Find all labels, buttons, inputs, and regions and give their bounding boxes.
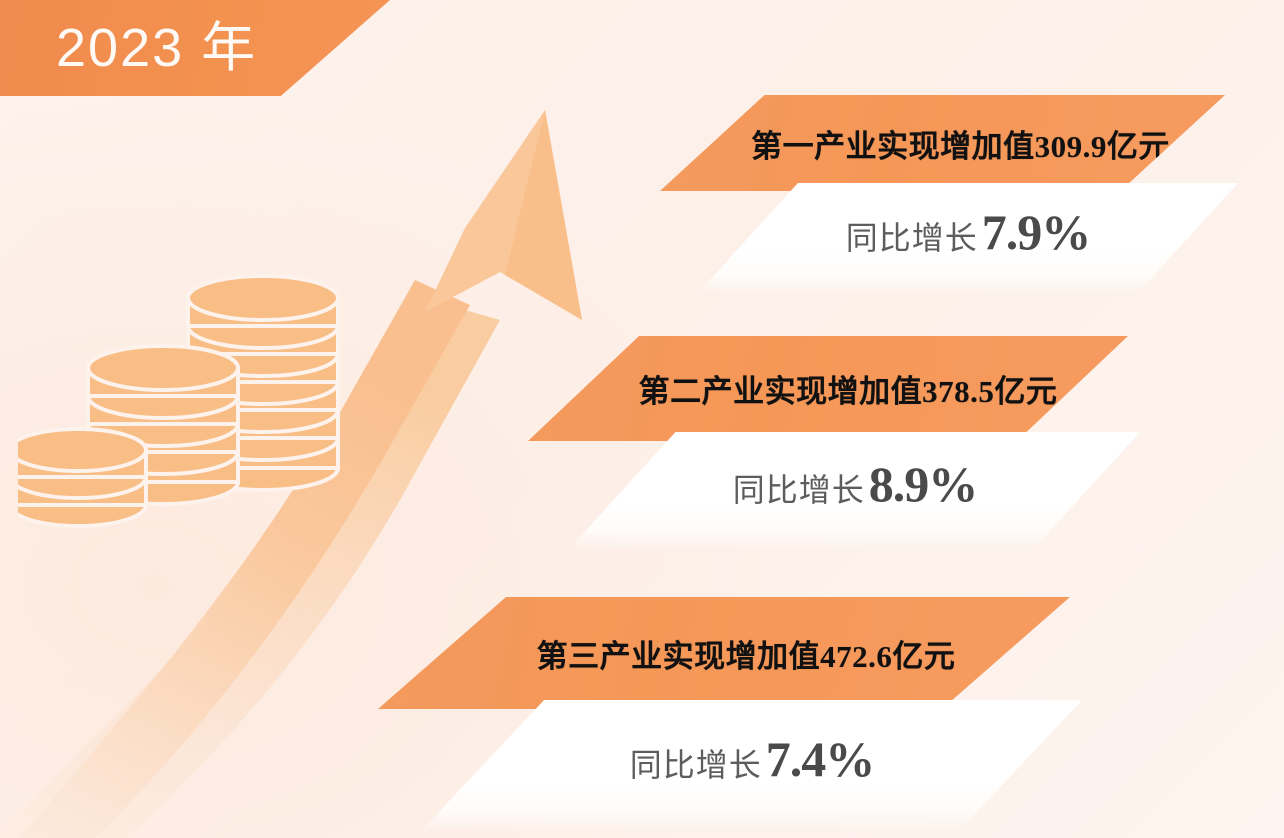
stat-card-title: 第一产业实现增加值309.9亿元 — [751, 121, 1170, 166]
stat-card-title: 第二产业实现增加值378.5亿元 — [639, 366, 1058, 411]
stat-card-growth-band: 同比增长 7.9% — [698, 183, 1238, 293]
stat-card-growth-inner: 同比增长 7.9% — [846, 203, 1091, 261]
stat-card-title-band: 第三产业实现增加值472.6亿元 — [378, 597, 1070, 709]
growth-label: 同比增长 — [733, 465, 865, 511]
stat-card-tertiary-industry: 第三产业实现增加值472.6亿元 同比增长 7.4% — [378, 597, 1148, 838]
stat-card-title: 第三产业实现增加值472.6亿元 — [537, 631, 956, 676]
stat-card-growth-inner: 同比增长 8.9% — [733, 455, 978, 513]
growth-value: 8.9% — [869, 455, 978, 513]
stat-card-secondary-industry: 第二产业实现增加值378.5亿元 同比增长 8.9% — [528, 336, 1188, 551]
year-banner: 2023 年 — [0, 0, 390, 96]
growth-label: 同比增长 — [630, 740, 762, 786]
infographic-canvas: 2023 年 第一产业实现增加值309.9亿元 同比增长 7.9% 第二产业实现… — [0, 0, 1284, 838]
coin-stacks-icon — [18, 270, 378, 535]
growth-value: 7.9% — [982, 203, 1091, 261]
stat-card-primary-industry: 第一产业实现增加值309.9亿元 同比增长 7.9% — [660, 95, 1280, 295]
stat-card-title-band: 第一产业实现增加值309.9亿元 — [660, 95, 1225, 191]
stat-card-growth-band: 同比增长 7.4% — [422, 700, 1082, 830]
coin-stacks-container — [18, 270, 378, 535]
stat-card-growth-band: 同比增长 8.9% — [570, 432, 1140, 548]
year-label: 2023 年 — [56, 21, 257, 75]
growth-label: 同比增长 — [846, 213, 978, 259]
growth-value: 7.4% — [766, 730, 875, 788]
stat-card-growth-inner: 同比增长 7.4% — [630, 730, 875, 788]
stat-card-title-band: 第二产业实现增加值378.5亿元 — [528, 336, 1128, 441]
